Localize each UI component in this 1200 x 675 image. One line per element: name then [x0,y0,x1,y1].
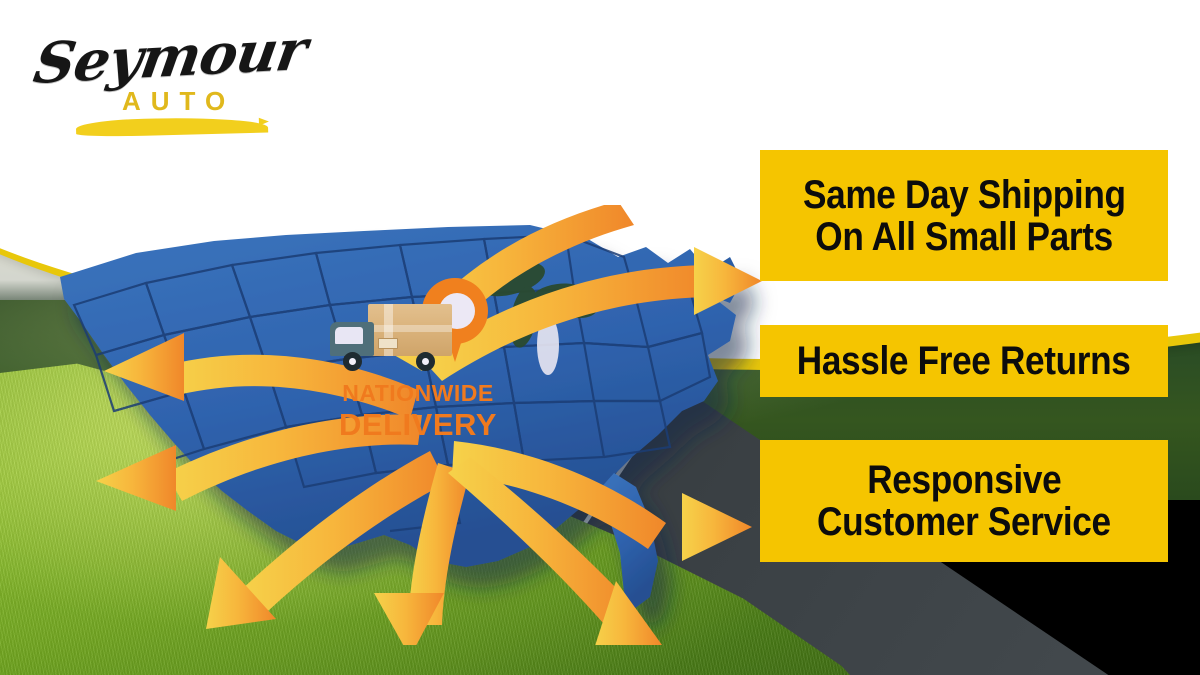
nationwide-label-line1: NATIONWIDE [328,382,508,405]
feature-line: Customer Service [817,501,1111,543]
promo-banner: Seymour AUTO [0,0,1200,675]
truck-wheel [343,352,362,371]
logo-sub-name: AUTO [122,86,235,117]
feature-box-hassle-free-returns[interactable]: Hassle Free Returns [760,325,1168,397]
nationwide-delivery-label: NATIONWIDE DELIVERY [328,382,508,440]
nationwide-label-line2: DELIVERY [328,409,508,440]
feature-line: On All Small Parts [815,216,1113,258]
feature-box-responsive-customer-service[interactable]: Responsive Customer Service [760,440,1168,562]
feature-box-same-day-shipping[interactable]: Same Day Shipping On All Small Parts [760,150,1168,281]
truck-wheel [416,352,435,371]
feature-line: Responsive [867,459,1061,501]
nationwide-delivery-badge: NATIONWIDE DELIVERY [330,278,505,448]
delivery-truck-icon [330,304,458,370]
feature-line: Hassle Free Returns [797,340,1131,382]
logo-script-name: Seymour [29,17,311,97]
brand-logo[interactable]: Seymour AUTO [26,18,276,128]
feature-line: Same Day Shipping [803,174,1126,216]
